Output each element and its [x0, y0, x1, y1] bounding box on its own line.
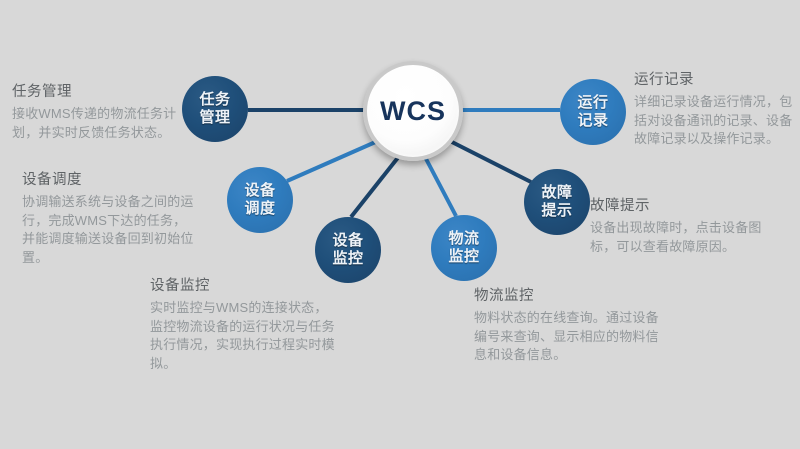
block-title: 运行记录: [634, 72, 799, 89]
operation-log-text: 运行记录详细记录设备运行情况，包括对设备通讯的记录、设备故障记录以及操作记录。: [634, 72, 799, 149]
node-label-line2: 记录: [577, 112, 608, 130]
node-label-line1: 任务: [199, 91, 230, 109]
block-body: 实时监控与WMS的连接状态，监控物流设备的运行状况与任务执行情况，实现执行过程实…: [150, 299, 340, 373]
center-hub-wcs[interactable]: WCS: [363, 61, 463, 161]
node-operation-log[interactable]: 运行记录: [560, 79, 626, 145]
block-body: 设备出现故障时，点击设备图标，可以查看故障原因。: [590, 219, 780, 256]
block-title: 物流监控: [474, 288, 670, 305]
block-title: 故障提示: [590, 198, 780, 215]
node-label-line2: 监控: [448, 248, 479, 266]
block-body: 协调输送系统与设备之间的运行，完成WMS下达的任务，并能调度输送设备回到初始位置…: [22, 193, 198, 267]
node-label-line2: 管理: [199, 109, 230, 127]
wcs-mindmap-diagram: 任务管理设备调度设备监控物流监控故障提示运行记录 WCS 任务管理接收WMS传递…: [0, 0, 800, 449]
block-title: 任务管理: [12, 84, 187, 101]
node-label-line2: 提示: [541, 202, 572, 220]
hub-to-device-monitoring: [351, 155, 400, 217]
device-scheduling-text: 设备调度协调输送系统与设备之间的运行，完成WMS下达的任务，并能调度输送设备回到…: [22, 172, 198, 267]
node-task-management[interactable]: 任务管理: [182, 76, 248, 142]
hub-to-logistics-monitoring: [424, 155, 456, 216]
device-monitoring-text: 设备监控实时监控与WMS的连接状态，监控物流设备的运行状况与任务执行情况，实现执…: [150, 278, 340, 373]
node-label-line1: 运行: [577, 94, 608, 112]
block-body: 详细记录设备运行情况，包括对设备通讯的记录、设备故障记录以及操作记录。: [634, 93, 799, 148]
block-body: 物料状态的在线查询。通过设备编号来查询、显示相应的物料信息和设备信息。: [474, 309, 670, 364]
hub-label: WCS: [380, 96, 446, 127]
node-label-line1: 设备: [244, 182, 275, 200]
node-device-monitoring[interactable]: 设备监控: [315, 217, 381, 283]
node-label-line1: 故障: [541, 184, 572, 202]
node-logistics-monitoring[interactable]: 物流监控: [431, 215, 497, 281]
hub-to-device-scheduling: [287, 140, 380, 181]
node-fault-alert[interactable]: 故障提示: [524, 169, 590, 235]
node-label-line2: 调度: [244, 200, 275, 218]
node-label-line2: 监控: [332, 250, 363, 268]
node-label-line1: 物流: [448, 230, 479, 248]
node-label-line1: 设备: [332, 232, 363, 250]
node-device-scheduling[interactable]: 设备调度: [227, 167, 293, 233]
task-management-text: 任务管理接收WMS传递的物流任务计划，并实时反馈任务状态。: [12, 84, 187, 142]
block-body: 接收WMS传递的物流任务计划，并实时反馈任务状态。: [12, 105, 187, 142]
logistics-monitoring-text: 物流监控物料状态的在线查询。通过设备编号来查询、显示相应的物料信息和设备信息。: [474, 288, 670, 365]
fault-alert-text: 故障提示设备出现故障时，点击设备图标，可以查看故障原因。: [590, 198, 780, 256]
hub-to-fault-alert: [446, 139, 531, 182]
block-title: 设备监控: [150, 278, 340, 295]
block-title: 设备调度: [22, 172, 198, 189]
